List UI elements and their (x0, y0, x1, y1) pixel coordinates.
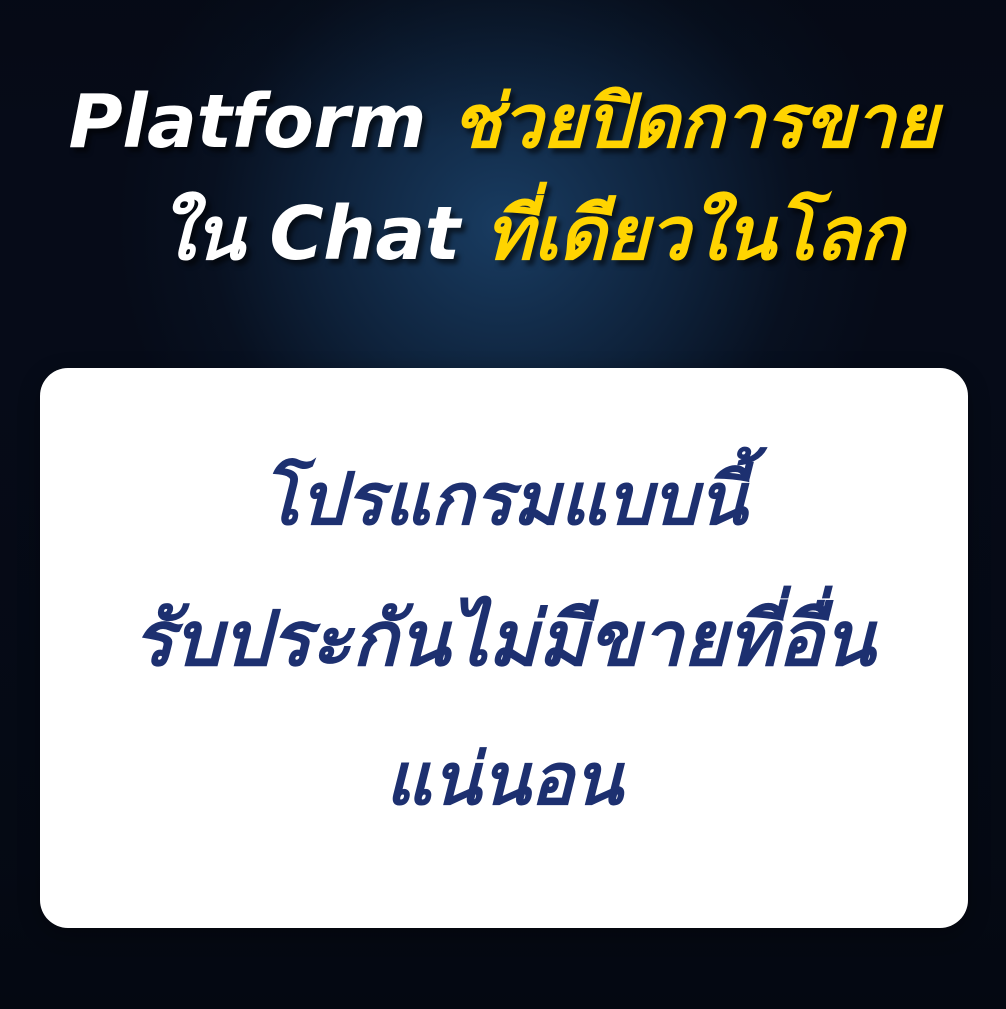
headline-line-1-white: Platform (68, 79, 426, 165)
guarantee-line-3: แน่นอน (133, 709, 875, 849)
promo-poster: Platform ช่วยปิดการขายใน Chat ที่เดียวใน… (0, 0, 1006, 1009)
guarantee-line-1: โปรแกรมแบบนี้ (133, 429, 875, 569)
headline-line-2-white: ใน Chat (158, 191, 459, 277)
headline-line-2-yellow: ที่เดียวในโลก (460, 191, 904, 277)
headline-line-2: ใน Chat ที่เดียวในโลก (0, 178, 1006, 290)
guarantee-line-2: รับประกันไม่มีขายที่อื่น (133, 569, 875, 709)
headline: Platform ช่วยปิดการขายใน Chat ที่เดียวใน… (0, 66, 1006, 290)
headline-line-1-yellow: ช่วยปิดการขาย (426, 79, 938, 165)
guarantee-card-text: โปรแกรมแบบนี้ รับประกันไม่มีขายที่อื่น แ… (133, 429, 875, 867)
headline-line-1: Platform ช่วยปิดการขาย (0, 66, 1006, 178)
guarantee-card: โปรแกรมแบบนี้ รับประกันไม่มีขายที่อื่น แ… (40, 368, 968, 928)
